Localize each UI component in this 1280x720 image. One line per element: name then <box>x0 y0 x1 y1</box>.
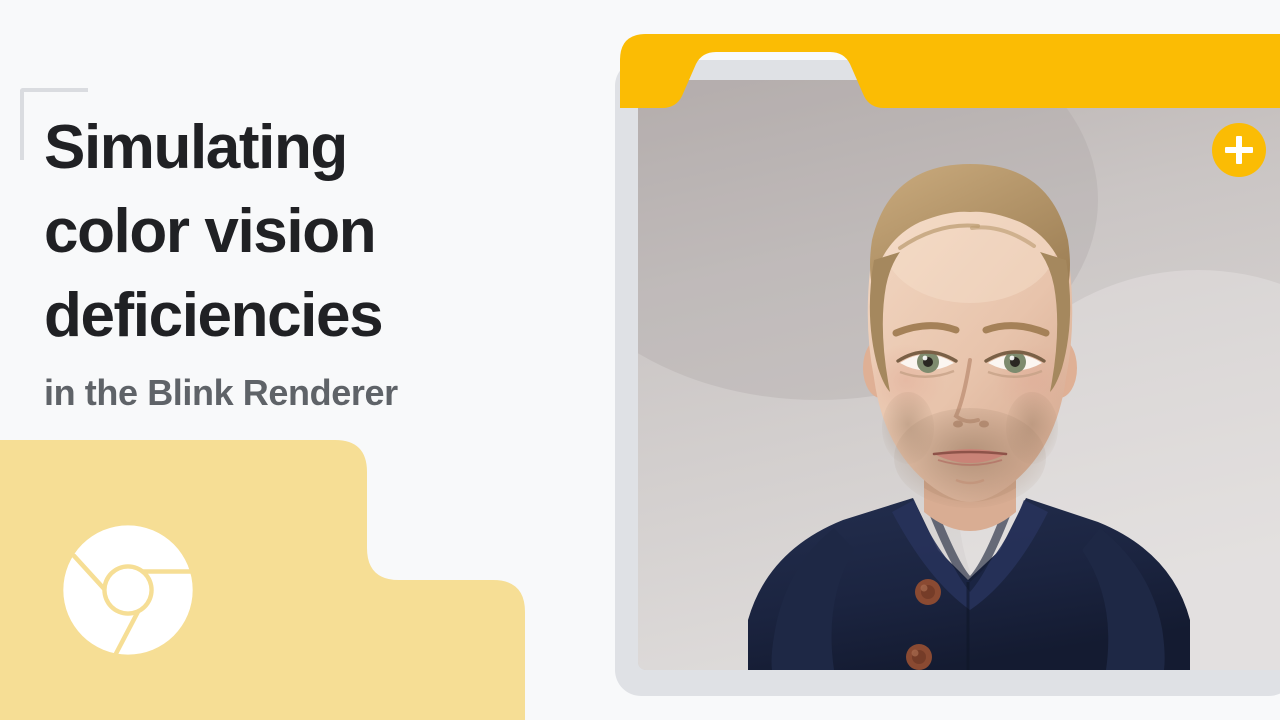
page-title: Simulating color vision deficiencies <box>44 106 564 358</box>
left-panel: Simulating color vision deficiencies in … <box>0 0 600 720</box>
thumbnail-stage: Simulating color vision deficiencies in … <box>0 0 1280 720</box>
title-block: Simulating color vision deficiencies in … <box>44 106 564 414</box>
presenter-portrait <box>638 80 1280 670</box>
chrome-logo-icon <box>62 524 194 656</box>
page-subtitle: in the Blink Renderer <box>44 372 564 414</box>
add-button[interactable] <box>1212 123 1266 177</box>
folder-tab-bar <box>620 34 1280 114</box>
plus-icon-vertical <box>1236 136 1242 164</box>
